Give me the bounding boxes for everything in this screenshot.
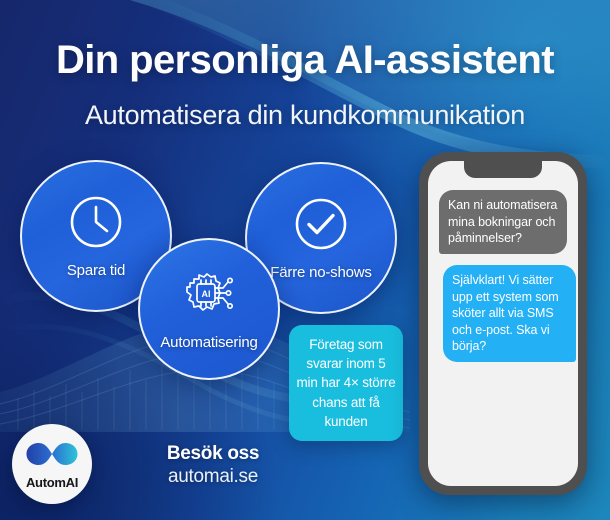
ai-chip-gear-icon: AI: [180, 268, 238, 327]
chat-bubble-customer: Kan ni automatisera mina bokningar och p…: [439, 190, 567, 254]
footer-website[interactable]: automai.se: [113, 466, 313, 488]
svg-text:AI: AI: [202, 289, 211, 299]
phone-notch: [464, 161, 542, 178]
footer-cta: Besök oss automai.se: [113, 443, 313, 488]
infinity-icon: [23, 439, 81, 474]
stat-card: Företag som svarar inom 5 min har 4× stö…: [289, 325, 403, 441]
brand-wordmark: AutomAI: [26, 475, 78, 490]
clock-icon: [68, 194, 124, 255]
phone-screen: Kan ni automatisera mina bokningar och p…: [428, 161, 578, 486]
page-subtitle: Automatisera din kundkommunikation: [0, 100, 610, 131]
footer-cta-label: Besök oss: [113, 443, 313, 465]
feature-circle-automatisering[interactable]: AI Automatisering: [138, 238, 280, 380]
brand-logo[interactable]: AutomAI: [12, 424, 92, 504]
check-circle-icon: [293, 196, 349, 257]
feature-label-automatisering: Automatisering: [160, 334, 257, 351]
phone-mockup: Kan ni automatisera mina bokningar och p…: [419, 152, 587, 495]
stat-card-text: Företag som svarar inom 5 min har 4× stö…: [289, 335, 403, 431]
chat-bubble-assistant: Självklart! Vi sätter upp ett system som…: [443, 265, 576, 362]
page-title: Din personliga AI-assistent: [0, 38, 610, 83]
feature-label-farre-no-shows: Färre no-shows: [270, 264, 371, 281]
poster-canvas: Din personliga AI-assistent Automatisera…: [0, 0, 610, 520]
feature-label-spara-tid: Spara tid: [67, 262, 125, 279]
